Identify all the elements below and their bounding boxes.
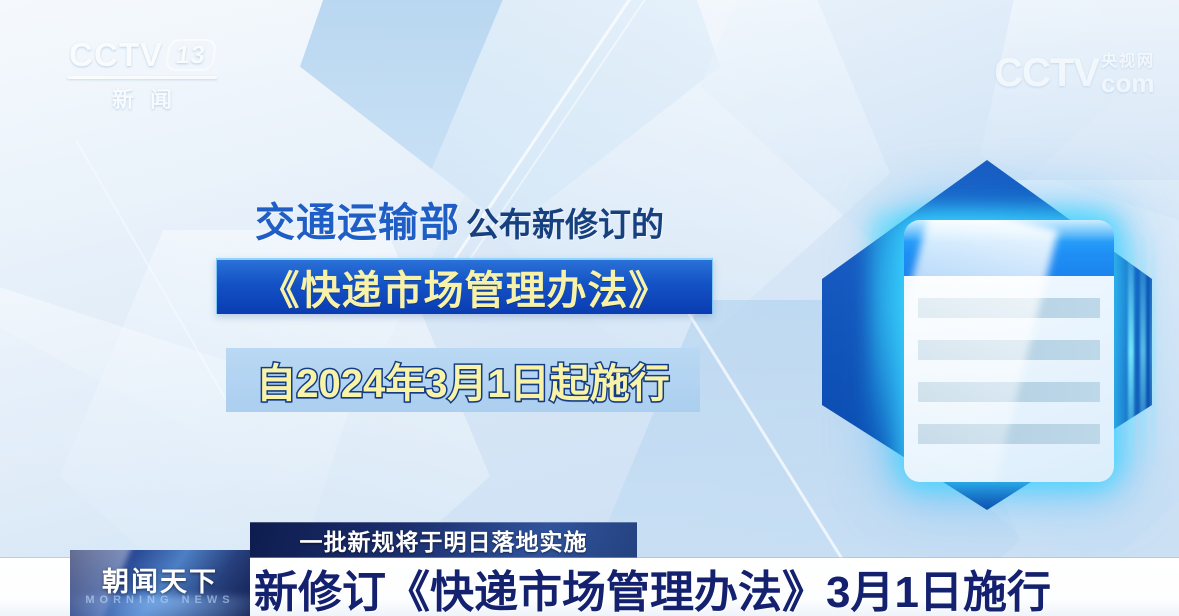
document-header-band [904, 220, 1114, 276]
watermark-stack: 央视网 com [1101, 54, 1155, 96]
glow-edge [1128, 236, 1134, 466]
document-graphic [792, 150, 1179, 550]
broadcast-screen: CCTV 13 新闻 CCTV 央视网 com 交通运输部 公布新修订的 《快递… [0, 0, 1179, 616]
cctv-wordmark: CCTV 13 [62, 36, 222, 74]
topic-banner: 一批新规将于明日落地实施 [250, 522, 637, 558]
document-text-lines [904, 276, 1114, 444]
regulation-title-banner: 《快递市场管理办法》 [216, 258, 713, 314]
channel-number: 13 [165, 39, 217, 71]
document-line [918, 382, 1100, 402]
caption-line-1-rest: 公布新修订的 [466, 198, 664, 246]
headline-text: 新修订《快递市场管理办法》3月1日施行 [254, 562, 1174, 614]
header-shine [904, 220, 1114, 242]
watermark-cctv-text: CCTV [994, 51, 1099, 96]
document-line [918, 424, 1100, 444]
effective-date-text: 自2024年3月1日起施行 [256, 351, 669, 409]
cctv-com-watermark: CCTV 央视网 com [994, 40, 1155, 96]
logo-glow [70, 596, 250, 616]
document-icon [904, 220, 1114, 482]
glow-edge [1150, 236, 1156, 466]
cctv13-channel-logo: CCTV 13 新闻 [62, 36, 222, 116]
channel-subtitle: 新闻 [62, 82, 222, 114]
topic-banner-text: 一批新规将于明日落地实施 [300, 523, 588, 557]
program-logo: 朝闻天下 MORNING NEWS [70, 550, 250, 616]
regulation-title: 《快递市场管理办法》 [260, 258, 670, 316]
watermark-com-text: com [1101, 70, 1155, 96]
glow-edge [1140, 236, 1146, 466]
caption-line-1: 交通运输部 公布新修订的 [255, 190, 664, 248]
cctv-text: CCTV [69, 36, 163, 74]
effective-date-banner: 自2024年3月1日起施行 [226, 348, 700, 412]
document-line [918, 340, 1100, 360]
logo-underline [67, 76, 217, 79]
ministry-name: 交通运输部 [255, 190, 460, 248]
document-line [918, 298, 1100, 318]
